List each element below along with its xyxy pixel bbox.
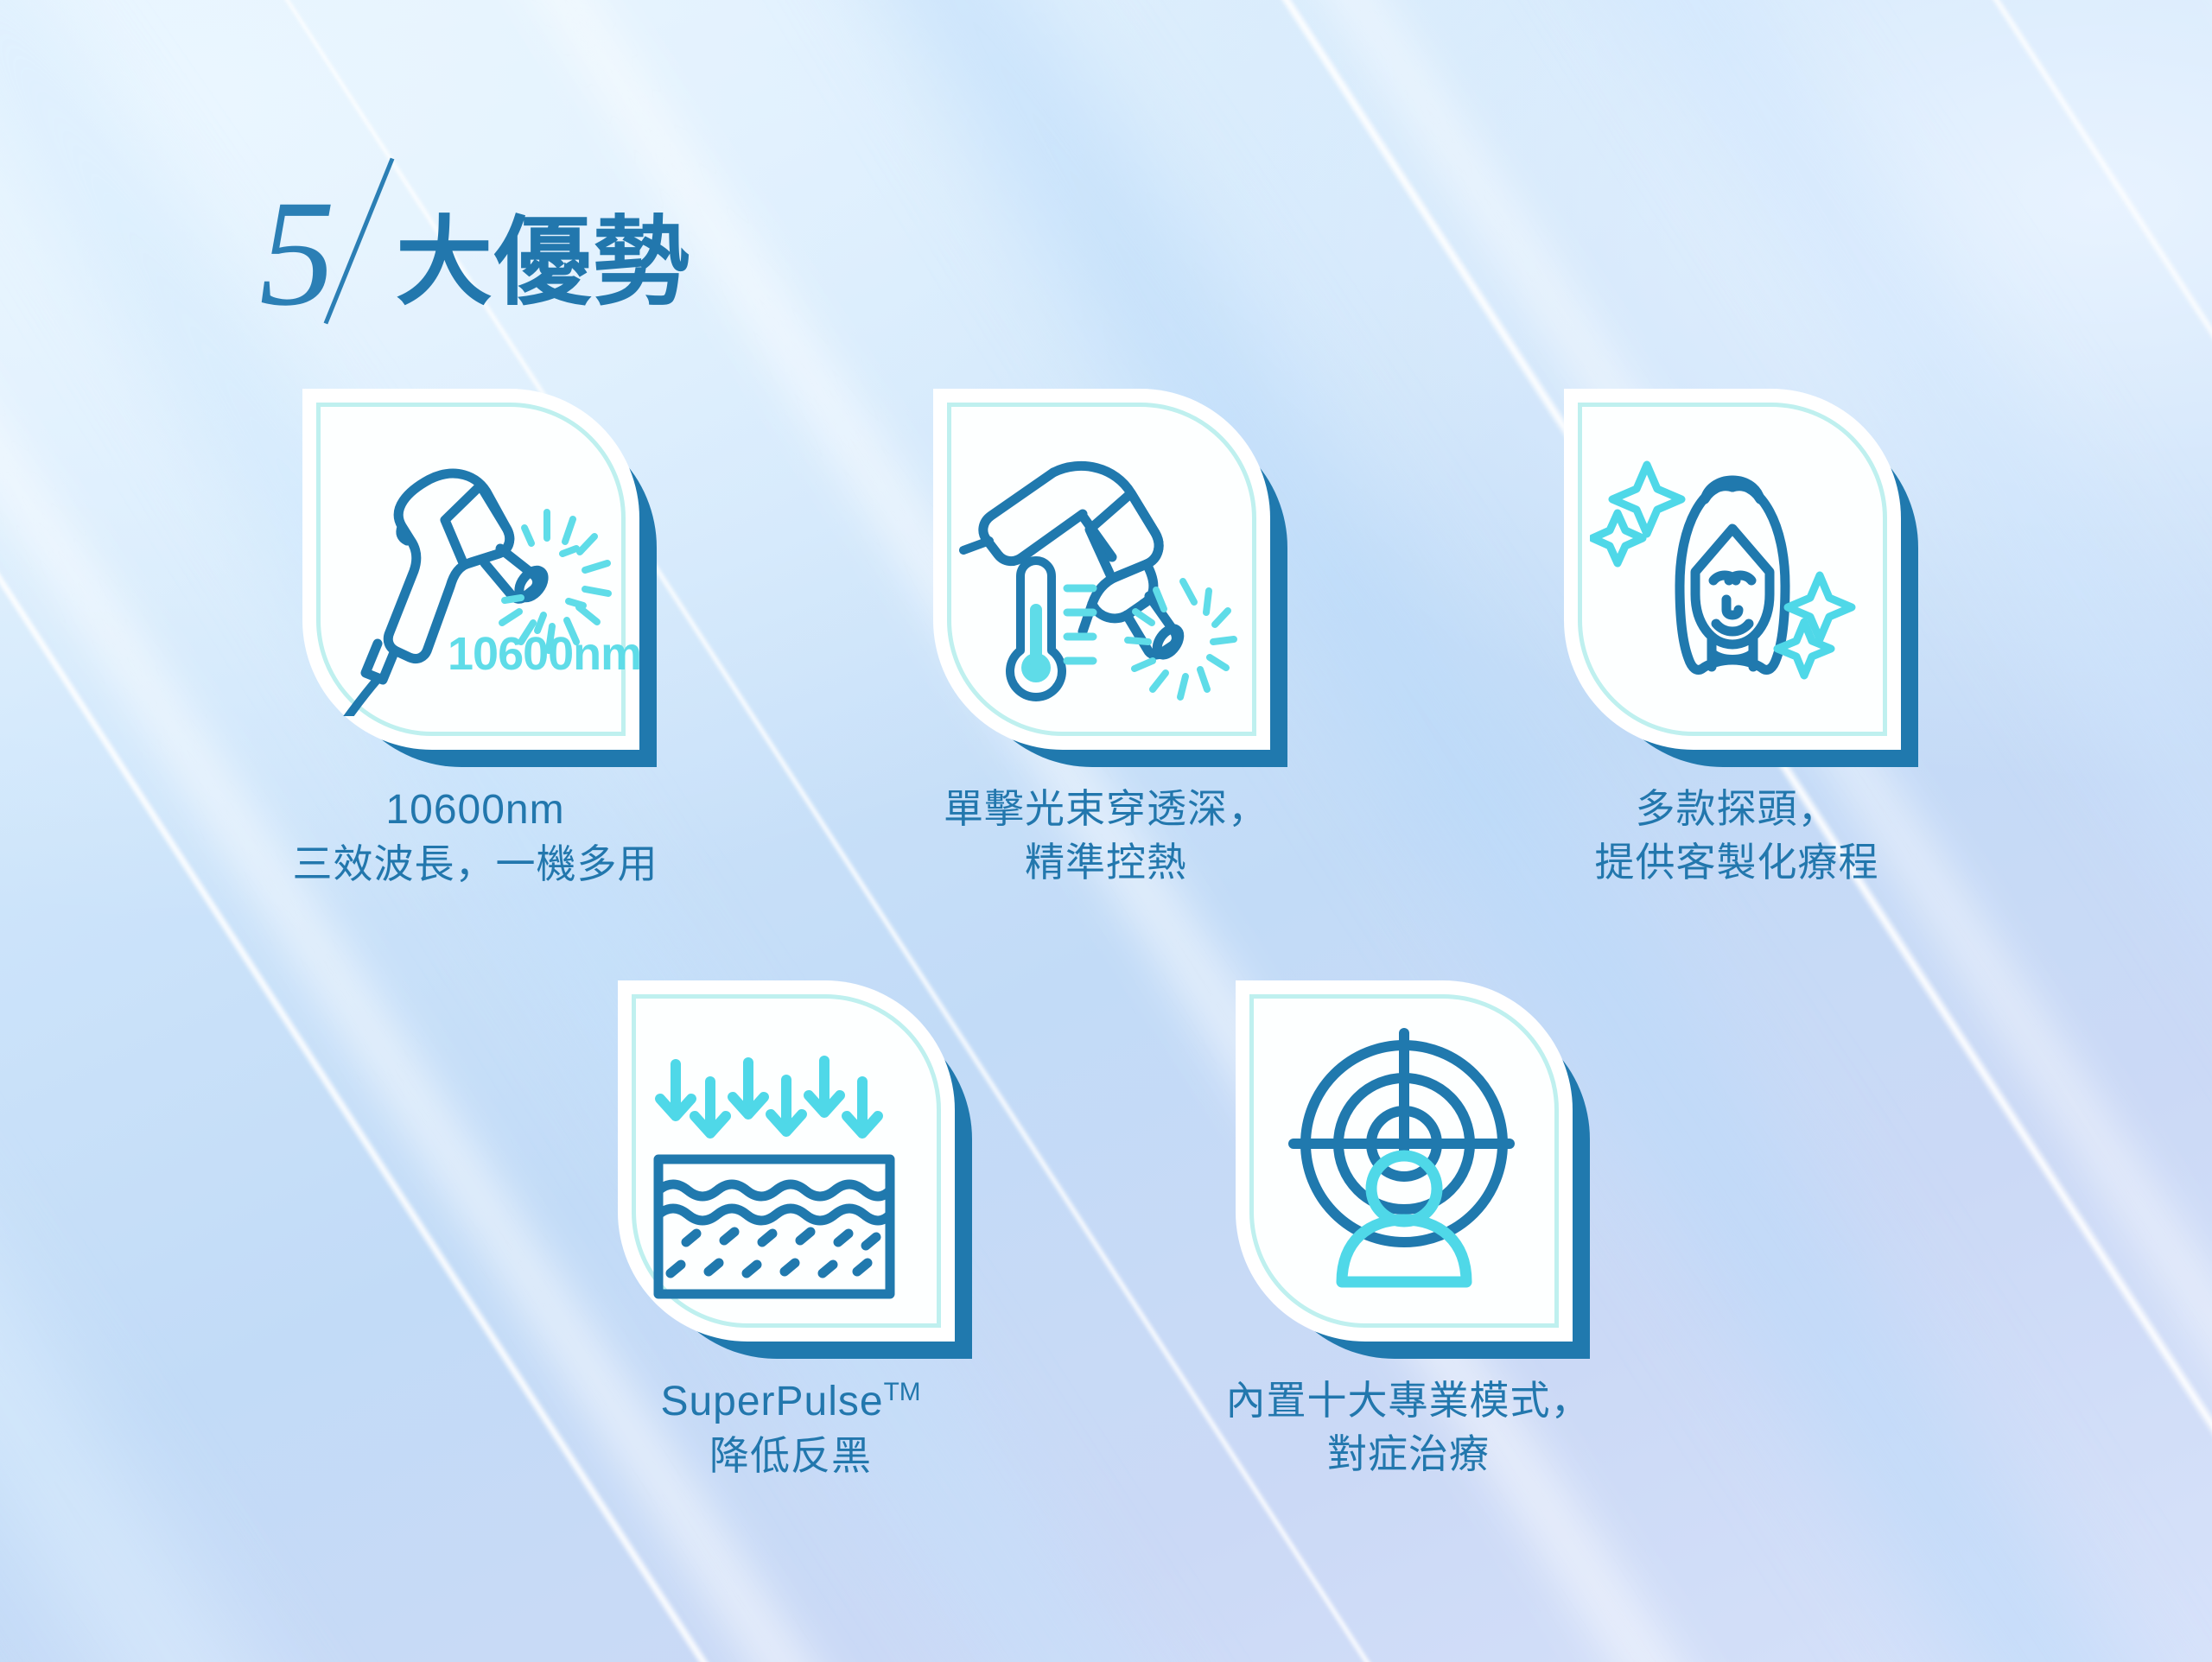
caption-line-2: 提供客製化療程 xyxy=(1529,836,1944,890)
caption-line-1: 多款探頭， xyxy=(1529,783,1944,836)
card-surface xyxy=(618,980,955,1342)
advantage-card-2[interactable]: 單擊光束穿透深， 精準控熱 xyxy=(899,389,1313,889)
wavelength-badge: 10600nm xyxy=(448,627,641,681)
card-frame xyxy=(1236,980,1581,1352)
caption-line-2: 精準控熱 xyxy=(899,836,1313,890)
caption-line-1: 單擊光束穿透深， xyxy=(899,783,1313,836)
advantage-card-1[interactable]: 10600nm 10600nm 三效波長，一機多用 xyxy=(268,389,683,891)
skin-layers-arrows-icon xyxy=(618,980,955,1342)
card-frame xyxy=(618,980,963,1352)
card-surface: 10600nm xyxy=(302,389,639,750)
card-surface xyxy=(1236,980,1573,1342)
card-surface xyxy=(933,389,1270,750)
card-frame: 10600nm xyxy=(302,389,648,760)
woman-face-sparkle-icon xyxy=(1564,389,1901,750)
caption-line-1: 10600nm xyxy=(268,783,683,838)
advantage-card-5[interactable]: 內置十大專業模式， 對症治療 xyxy=(1201,980,1616,1481)
card-caption: 10600nm 三效波長，一機多用 xyxy=(268,783,683,891)
advantages-grid: 10600nm 10600nm 三效波長，一機多用 xyxy=(0,0,2212,1662)
caption-line-1: 內置十大專業模式， xyxy=(1201,1374,1616,1428)
advantage-card-3[interactable]: 多款探頭， 提供客製化療程 xyxy=(1529,389,1944,889)
brand-name: SuperPulse xyxy=(660,1379,883,1424)
card-frame xyxy=(1564,389,1910,760)
advantage-card-4[interactable]: SuperPulseTM 降低反黑 xyxy=(583,980,998,1483)
caption-line-2: 降低反黑 xyxy=(583,1430,998,1483)
handpiece-thermometer-icon xyxy=(933,389,1270,750)
trademark-symbol: TM xyxy=(884,1378,921,1406)
caption-line-1: SuperPulseTM xyxy=(583,1374,998,1430)
card-caption: 內置十大專業模式， 對症治療 xyxy=(1201,1374,1616,1481)
card-frame xyxy=(933,389,1279,760)
card-caption: 單擊光束穿透深， 精準控熱 xyxy=(899,783,1313,889)
target-person-icon xyxy=(1236,980,1573,1342)
card-caption: 多款探頭， 提供客製化療程 xyxy=(1529,783,1944,889)
caption-line-2: 對症治療 xyxy=(1201,1428,1616,1481)
caption-line-2: 三效波長，一機多用 xyxy=(268,838,683,891)
laser-handpiece-icon xyxy=(302,389,639,750)
card-caption: SuperPulseTM 降低反黑 xyxy=(583,1374,998,1483)
card-surface xyxy=(1564,389,1901,750)
